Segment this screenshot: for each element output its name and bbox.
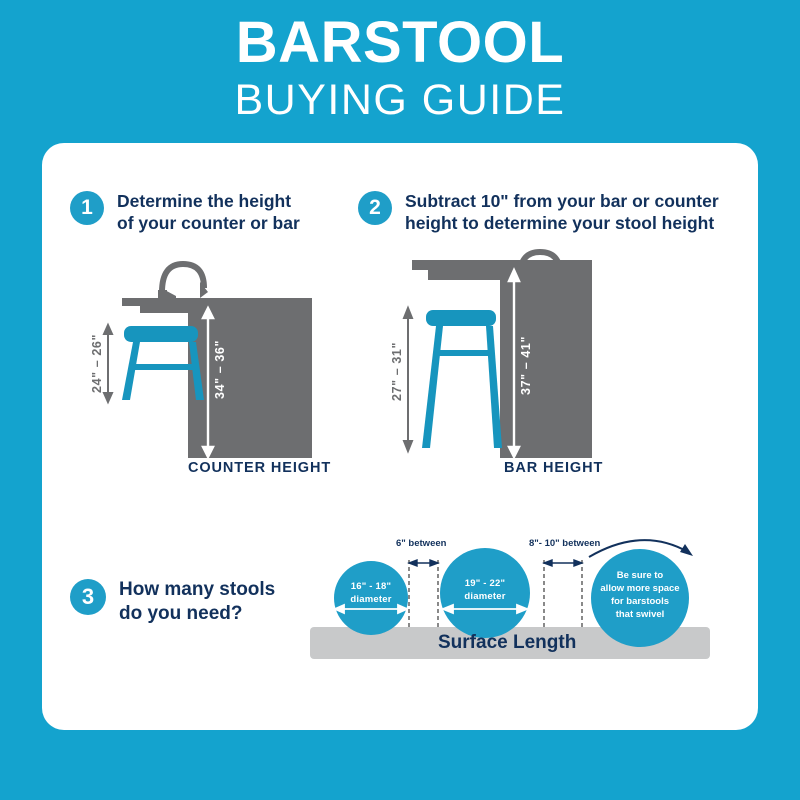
bar-height-caption: BAR HEIGHT [504, 460, 603, 476]
bar-height-illustration [392, 248, 682, 483]
step-1-number-badge: 1 [70, 191, 104, 225]
infographic-poster: BARSTOOL BUYING GUIDE 1 Determine the he… [0, 0, 800, 800]
step-2-heading: 2 Subtract 10" from your bar or counter … [358, 190, 719, 235]
counter-top-edge [122, 298, 312, 306]
step-2-number-badge: 2 [358, 191, 392, 225]
counter-height-illustration [100, 248, 390, 483]
surface-length-label: Surface Length [438, 632, 576, 654]
counter-stool-dimension-label: 24" – 26" [90, 334, 104, 393]
step-3-number-badge: 3 [70, 579, 106, 615]
gap-1-label: 6" between [396, 538, 446, 549]
faucet-icon [162, 264, 204, 292]
stool-dimension-arrow [104, 325, 112, 402]
gap-2-guides [544, 560, 582, 627]
counter-cabinet [188, 306, 312, 458]
stool-spacing-diagram: 16" - 18" diameter 19" - 22" diameter Be… [310, 530, 710, 670]
stool-circle-2-label: 19" - 22" diameter [448, 578, 522, 603]
bar-height-dimension-label: 37" – 41" [519, 336, 533, 395]
gap-1-arrow [409, 560, 438, 566]
bar-stool-icon [422, 310, 502, 448]
bar-stool-dimension-label: 27" – 31" [390, 342, 404, 401]
gap-1-guides [409, 560, 438, 627]
stool-dimension-arrow [404, 308, 412, 451]
step-3-heading: 3 How many stools do you need? [70, 578, 275, 627]
counter-height-dimension-label: 34" – 36" [213, 340, 227, 399]
bar-height-diagram: 27" – 31" 37" – 41" BAR HEIGHT [392, 248, 682, 483]
title-main: BARSTOOL [0, 14, 800, 72]
swivel-note-label: Be sure to allow more space for barstool… [592, 570, 688, 622]
counter-height-diagram: 24" – 26" 34" – 36" COUNTER HEIGHT [100, 248, 390, 483]
gap-2-label: 8"- 10" between [529, 538, 600, 549]
title-subtitle: BUYING GUIDE [0, 76, 800, 125]
counter-height-caption: COUNTER HEIGHT [188, 460, 331, 476]
step-1-text: Determine the height of your counter or … [117, 190, 300, 235]
step-2-text: Subtract 10" from your bar or counter he… [405, 190, 719, 235]
poster-title: BARSTOOL BUYING GUIDE [0, 14, 800, 125]
step-1-heading: 1 Determine the height of your counter o… [70, 190, 300, 235]
step-3-text: How many stools do you need? [119, 578, 275, 627]
stool-circle-1-label: 16" - 18" diameter [334, 581, 408, 606]
bar-upper-ledge [412, 260, 500, 280]
gap-2-arrow [544, 560, 582, 566]
swivel-arrow-head [680, 544, 693, 556]
